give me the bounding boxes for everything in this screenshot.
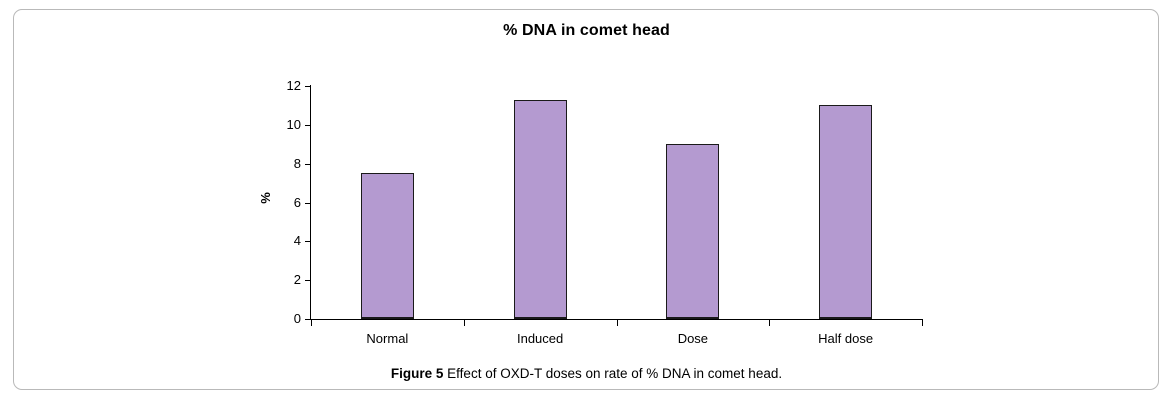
y-tick-label: 2 [271,273,301,286]
x-tick-mark [769,320,770,326]
y-tick-mark [305,280,311,281]
x-tick-mark [464,320,465,326]
bar-dose [666,144,719,319]
x-tick-label: Dose [633,332,753,345]
y-tick-label: 12 [271,79,301,92]
x-tick-label: Half dose [786,332,906,345]
x-tick-mark [311,320,312,326]
y-tick-mark [305,125,311,126]
x-tick-label: Induced [480,332,600,345]
y-tick-mark [305,203,311,204]
x-tick-mark [617,320,618,326]
x-tick-mark [922,320,923,326]
figure-caption: Figure 5 Effect of OXD-T doses on rate o… [0,366,1173,381]
bar-induced [514,100,567,319]
figure-caption-text: Effect of OXD-T doses on rate of % DNA i… [447,366,782,381]
x-tick-label: Normal [327,332,447,345]
figure-caption-label: Figure 5 [391,366,444,381]
bar-normal [361,173,414,319]
y-tick-label: 4 [271,234,301,247]
y-tick-mark [305,86,311,87]
chart-title-text: % DNA in comet head [503,22,670,39]
y-tick-mark [305,164,311,165]
bar-half-dose [819,105,872,319]
y-tick-label: 6 [271,196,301,209]
y-tick-label: 0 [271,312,301,325]
chart-title: % DNA in comet head [0,22,1173,40]
y-tick-label: 10 [271,118,301,131]
y-tick-mark [305,241,311,242]
y-tick-label: 8 [271,157,301,170]
